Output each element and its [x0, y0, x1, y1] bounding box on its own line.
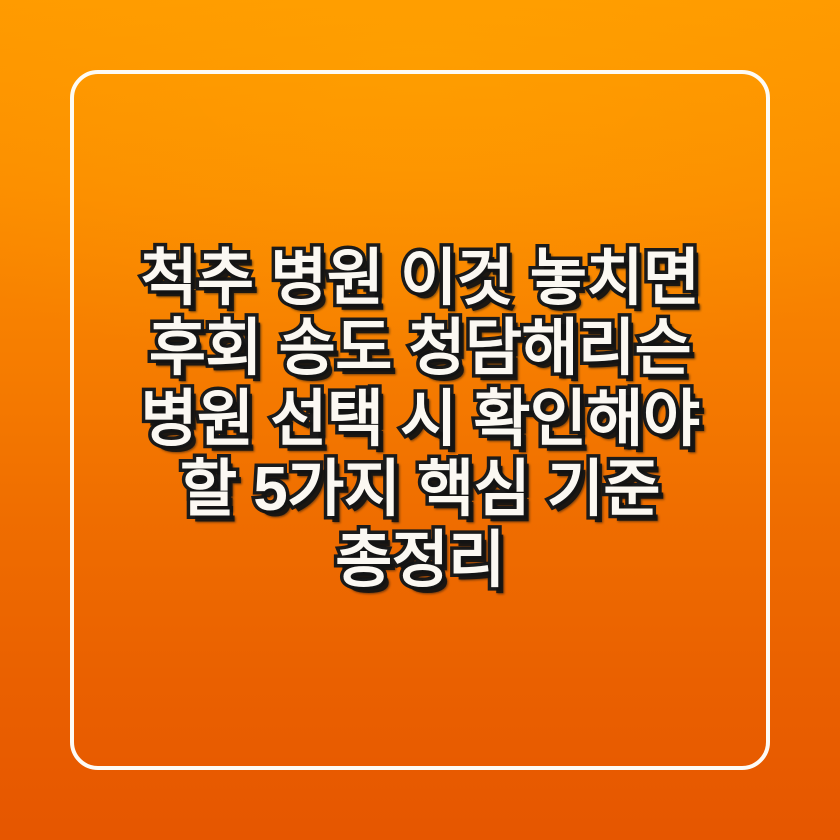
title-line-3: 병원 선택 시 확인해야 — [86, 385, 754, 455]
title-line-4: 할 5가지 핵심 기준 — [86, 455, 754, 525]
title-line-1: 척추 병원 이것 놓치면 — [86, 244, 754, 314]
page-title: 척추 병원 이것 놓치면 후회 송도 청담해리슨 병원 선택 시 확인해야 할 … — [86, 244, 754, 596]
thumbnail-poster: 척추 병원 이것 놓치면 후회 송도 청담해리슨 병원 선택 시 확인해야 할 … — [0, 0, 840, 840]
title-line-5: 총정리 — [86, 526, 754, 596]
title-line-2: 후회 송도 청담해리슨 — [86, 314, 754, 384]
title-block: 척추 병원 이것 놓치면 후회 송도 청담해리슨 병원 선택 시 확인해야 할 … — [0, 0, 840, 840]
